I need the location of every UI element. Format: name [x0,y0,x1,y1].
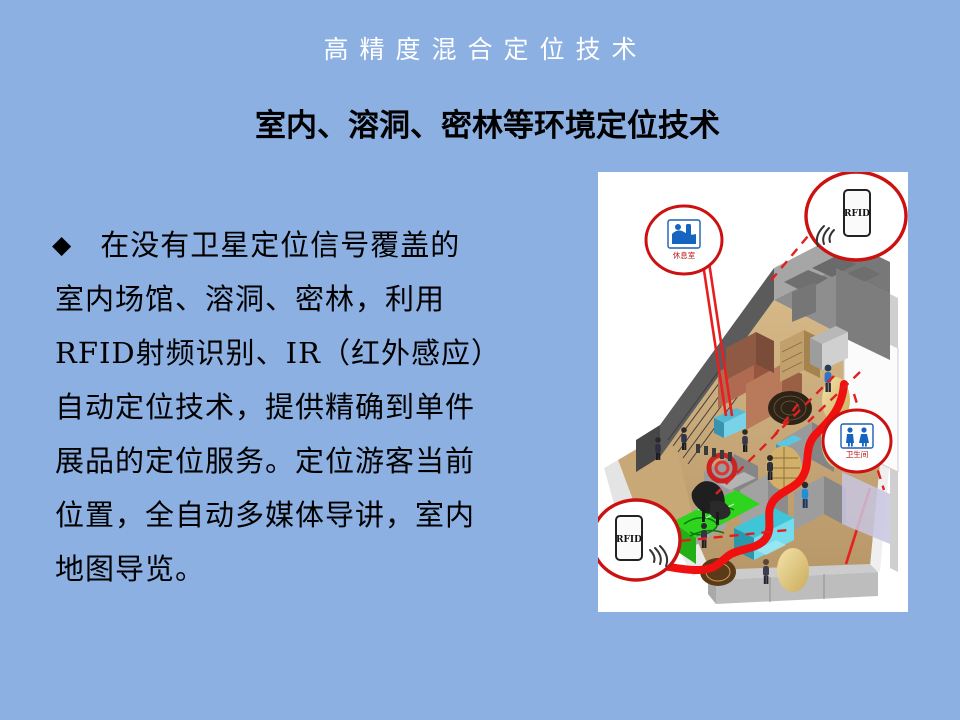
callout-rfid-bottom-left: RFID [598,500,680,580]
bullet-diamond-icon: ◆ [52,218,72,272]
floorplan-illustration: RFID 休息室 [598,172,908,612]
body-line: 位置，全自动多媒体导讲，室内 [52,488,542,542]
floorplan-scene: RFID 休息室 [598,172,908,612]
body-text-block: ◆在没有卫星定位信号覆盖的 室内场馆、溶洞、密林，利用 RFID射频识别、IR（… [52,218,542,596]
slide-canvas: 高精度混合定位技术 室内、溶洞、密林等环境定位技术 ◆在没有卫星定位信号覆盖的 … [0,0,960,720]
visitor-figure [742,429,748,452]
body-line: 地图导览。 [52,542,542,596]
callout-label: 休息室 [673,250,696,260]
visitor-figure [681,427,687,450]
page-title: 高精度混合定位技术 [0,34,960,66]
callout-lounge-left: 休息室 [646,206,722,274]
body-line: RFID射频识别、IR（红外感应） [52,326,542,380]
body-line: 自动定位技术，提供精确到单件 [52,380,542,434]
callout-restroom-bottom-right: 卫生间 [823,410,891,472]
body-line: 展品的定位服务。定位游客当前 [52,434,542,488]
body-line-text: 在没有卫星定位信号覆盖的 [100,228,460,262]
callout-label: RFID [844,209,870,219]
visitor-figure [655,437,661,460]
floorplan-3d-svg: RFID 休息室 [598,172,908,612]
callout-label: 卫生间 [846,449,869,459]
section-subtitle: 室内、溶洞、密林等环境定位技术 [255,105,800,148]
body-line: ◆在没有卫星定位信号覆盖的 [52,218,542,272]
callout-rfid-top-right: RFID [806,172,906,260]
body-line: 室内场馆、溶洞、密林，利用 [52,272,542,326]
callout-label: RFID [616,535,642,545]
